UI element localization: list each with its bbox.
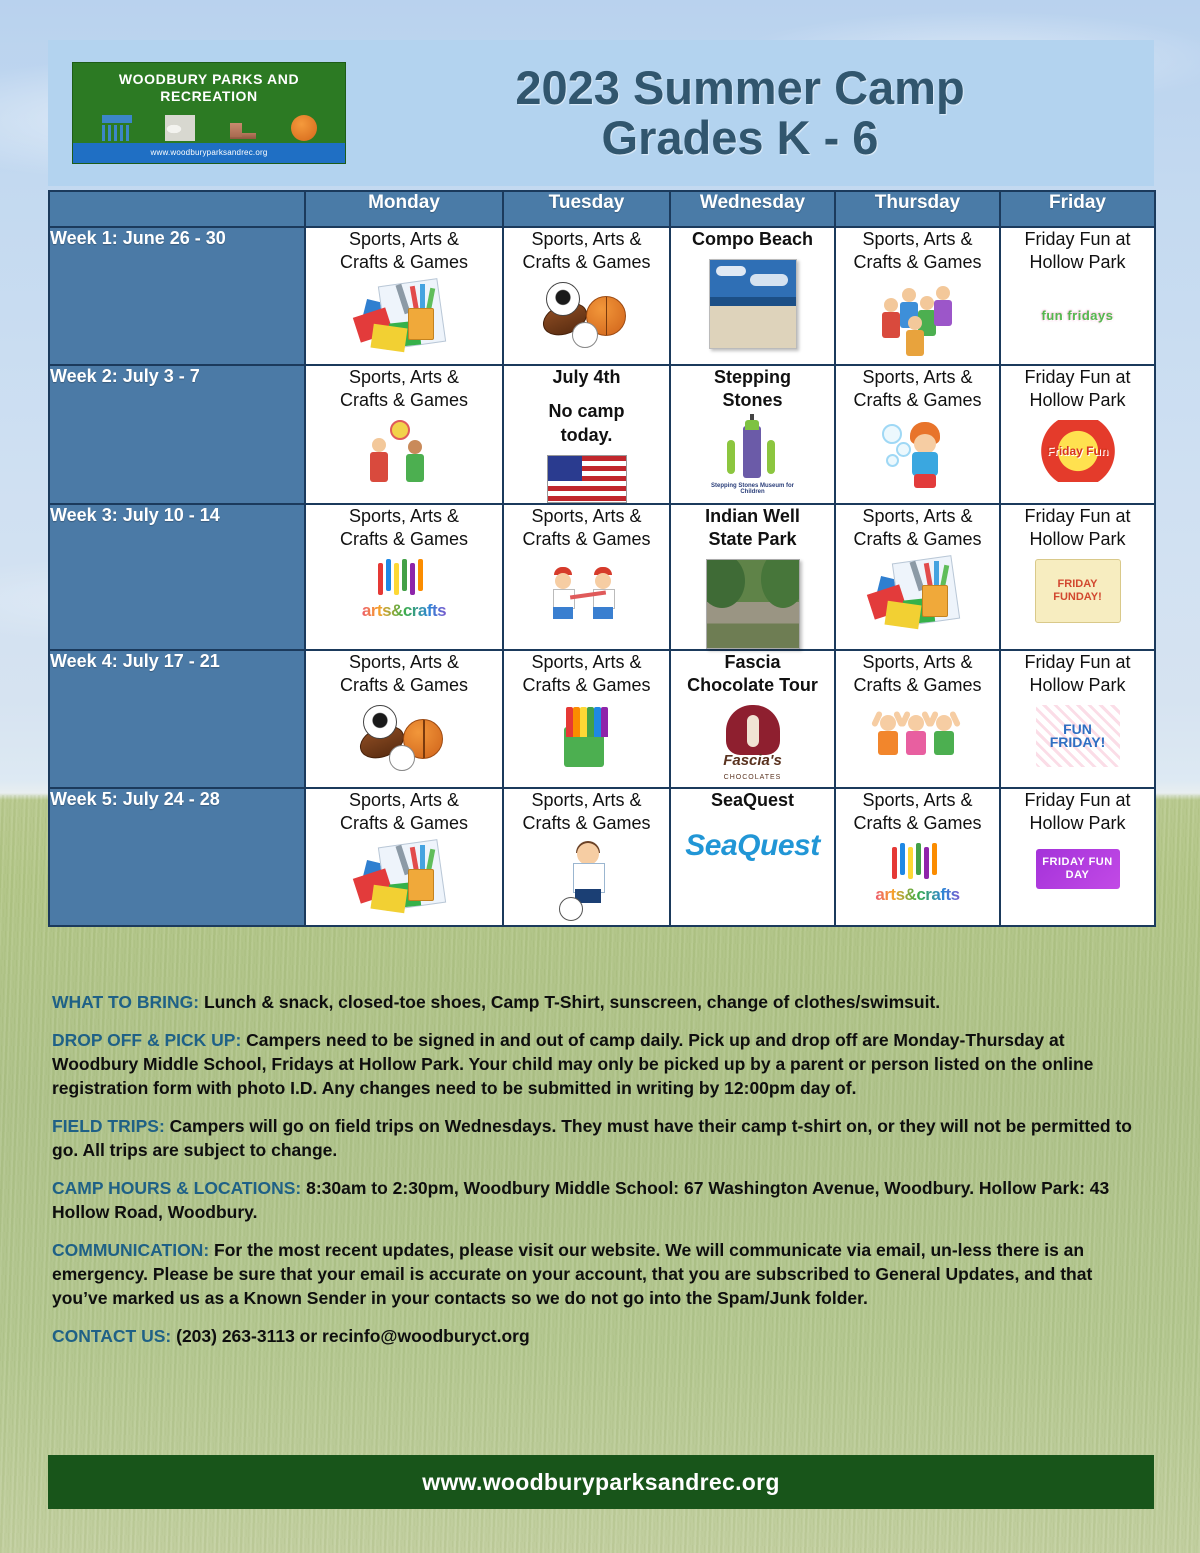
info-paragraph: COMMUNICATION: For the most recent updat… — [52, 1238, 1152, 1310]
schedule-cell: Sports, Arts &Crafts & Gamesarts&crafts — [305, 504, 503, 650]
schedule-cell-title: Compo Beach — [671, 228, 834, 251]
kids-playing-ball-icon — [362, 420, 446, 490]
schedule-cell-title: Sports, Arts &Crafts & Games — [306, 789, 502, 835]
page-title-line1: 2023 Summer Camp — [346, 63, 1134, 113]
logo-url: www.woodburyparksandrec.org — [73, 143, 345, 163]
info-paragraph: FIELD TRIPS: Campers will go on field tr… — [52, 1114, 1152, 1162]
week-label-cell: Week 1: June 26 - 30 — [49, 227, 305, 365]
schedule-cell-title: Friday Fun atHollow Park — [1001, 789, 1154, 835]
info-paragraph-lead: CAMP HOURS & LOCATIONS: — [52, 1178, 301, 1198]
schedule-cell-title: Indian WellState Park — [671, 505, 834, 551]
schedule-cell-title: SeaQuest — [671, 789, 834, 812]
schedule-cell: Compo Beach — [670, 227, 835, 365]
schedule-cell-title: Sports, Arts &Crafts & Games — [306, 505, 502, 551]
schedule-cell-title: July 4th — [504, 366, 669, 389]
friday-fun-day-badge-icon: FRIDAY FUN DAY — [1036, 849, 1120, 889]
table-header-row: Monday Tuesday Wednesday Thursday Friday — [49, 191, 1155, 227]
logo-title: WOODBURY PARKS AND RECREATION — [73, 71, 345, 105]
basketball-icon — [291, 115, 317, 141]
schedule-cell: Indian WellState Park — [670, 504, 835, 650]
schedule-cell: Sports, Arts &Crafts & Games — [503, 788, 670, 926]
info-paragraph-body: (203) 263-3113 or recinfo@woodburyct.org — [171, 1326, 529, 1346]
schedule-cell: FasciaChocolate TourFascia'sCHOCOLATES — [670, 650, 835, 788]
footer-website-bar[interactable]: www.woodburyparksandrec.org — [48, 1455, 1154, 1509]
schedule-cell: Sports, Arts &Crafts & Games — [503, 504, 670, 650]
column-header-thursday: Thursday — [835, 191, 1000, 227]
table-row: Week 4: July 17 - 21Sports, Arts &Crafts… — [49, 650, 1155, 788]
schedule-cell: SeaQuestSeaQuest — [670, 788, 835, 926]
schedule-cell: Sports, Arts &Crafts & Games — [835, 227, 1000, 365]
schedule-cell: Sports, Arts &Crafts & Games — [835, 365, 1000, 504]
schedule-cell: Sports, Arts &Crafts & Games — [503, 650, 670, 788]
schedule-cell-title: Sports, Arts &Crafts & Games — [306, 366, 502, 412]
week-label-cell: Week 5: July 24 - 28 — [49, 788, 305, 926]
table-row: Week 5: July 24 - 28Sports, Arts &Crafts… — [49, 788, 1155, 926]
schedule-cell-title: Sports, Arts &Crafts & Games — [306, 651, 502, 697]
schedule-cell-title: Sports, Arts &Crafts & Games — [836, 789, 999, 835]
arts-crafts-supplies-icon — [870, 559, 966, 631]
table-corner-cell — [49, 191, 305, 227]
schedule-cell-title: Friday Fun atHollow Park — [1001, 228, 1154, 274]
friday-funday-badge-icon: FRIDAY FUNDAY! — [1035, 559, 1121, 623]
week-label-cell: Week 4: July 17 - 21 — [49, 650, 305, 788]
column-header-monday: Monday — [305, 191, 503, 227]
cheering-kids-icon — [872, 705, 964, 767]
table-row: Week 2: July 3 - 7Sports, Arts &Crafts &… — [49, 365, 1155, 504]
schedule-cell-title: Sports, Arts &Crafts & Games — [504, 228, 669, 274]
sports-balls-icon — [359, 705, 449, 769]
arts-and-crafts-word-icon: arts&crafts — [868, 843, 968, 905]
schedule-cell-title: SteppingStones — [671, 366, 834, 412]
arts-crafts-supplies-icon — [356, 843, 452, 915]
table-body: Week 1: June 26 - 30Sports, Arts &Crafts… — [49, 227, 1155, 926]
info-paragraph: CAMP HOURS & LOCATIONS: 8:30am to 2:30pm… — [52, 1176, 1152, 1224]
schedule-cell-title: Sports, Arts &Crafts & Games — [836, 651, 999, 697]
schedule-cell-title: Friday Fun atHollow Park — [1001, 505, 1154, 551]
woodbury-parks-rec-logo: WOODBURY PARKS AND RECREATION www.woodbu… — [72, 62, 346, 164]
info-paragraph: WHAT TO BRING: Lunch & snack, closed-toe… — [52, 990, 1152, 1014]
footer-website-text: www.woodburyparksandrec.org — [422, 1469, 779, 1496]
schedule-cell-title: Friday Fun atHollow Park — [1001, 366, 1154, 412]
yoga-mat-icon — [165, 115, 195, 141]
schedule-cell-title: Sports, Arts &Crafts & Games — [836, 366, 999, 412]
schedule-cell: Sports, Arts &Crafts & Games — [305, 365, 503, 504]
crayons-icon — [544, 705, 630, 771]
page-title: 2023 Summer Camp Grades K - 6 — [346, 63, 1154, 163]
sports-balls-icon — [542, 282, 632, 346]
bubbles-kid-icon — [882, 420, 954, 490]
schedule-cell: Sports, Arts &Crafts & Games — [835, 650, 1000, 788]
usa-flag-icon — [547, 455, 627, 503]
info-paragraph: CONTACT US: (203) 263-3113 or recinfo@wo… — [52, 1324, 1152, 1348]
schedule-cell: Sports, Arts &Crafts & Gamesarts&crafts — [835, 788, 1000, 926]
info-paragraph-body: Campers will go on field trips on Wednes… — [52, 1116, 1132, 1160]
schedule-cell-title: Sports, Arts &Crafts & Games — [504, 789, 669, 835]
info-paragraph-lead: CONTACT US: — [52, 1326, 171, 1346]
info-section: WHAT TO BRING: Lunch & snack, closed-toe… — [52, 990, 1152, 1362]
flyer-page: WOODBURY PARKS AND RECREATION www.woodbu… — [0, 0, 1200, 1553]
logo-icon-row — [73, 111, 345, 145]
flyer-header: WOODBURY PARKS AND RECREATION www.woodbu… — [48, 40, 1154, 186]
column-header-wednesday: Wednesday — [670, 191, 835, 227]
schedule-cell-title: FasciaChocolate Tour — [671, 651, 834, 697]
schedule-cell-title: Sports, Arts &Crafts & Games — [306, 228, 502, 274]
table-row: Week 3: July 10 - 14Sports, Arts &Crafts… — [49, 504, 1155, 650]
playground-icon — [102, 115, 132, 141]
relay-race-kids-icon — [544, 559, 630, 625]
beach-photo-icon — [709, 259, 797, 349]
week-label-cell: Week 2: July 3 - 7 — [49, 365, 305, 504]
arts-crafts-supplies-icon — [356, 282, 452, 354]
kids-group-icon — [876, 282, 960, 352]
schedule-cell: Friday Fun atHollow ParkFUN FRIDAY! — [1000, 650, 1155, 788]
schedule-cell: Sports, Arts &Crafts & Games — [305, 227, 503, 365]
schedule-cell-title: Sports, Arts &Crafts & Games — [836, 228, 999, 274]
schedule-cell: Sports, Arts &Crafts & Games — [305, 788, 503, 926]
seaquest-logo-icon: SeaQuest — [678, 820, 828, 872]
info-paragraph: DROP OFF & PICK UP: Campers need to be s… — [52, 1028, 1152, 1100]
info-paragraph-lead: WHAT TO BRING: — [52, 992, 199, 1012]
schedule-cell: Friday Fun atHollow Parkfun fridays — [1000, 227, 1155, 365]
schedule-cell-title: Sports, Arts &Crafts & Games — [504, 651, 669, 697]
hiking-boot-icon — [228, 115, 258, 141]
fascias-chocolates-logo-icon: Fascia'sCHOCOLATES — [714, 705, 792, 781]
info-paragraph-lead: DROP OFF & PICK UP: — [52, 1030, 241, 1050]
schedule-cell: July 4thNo camptoday. — [503, 365, 670, 504]
column-header-friday: Friday — [1000, 191, 1155, 227]
table-row: Week 1: June 26 - 30Sports, Arts &Crafts… — [49, 227, 1155, 365]
info-paragraph-body: For the most recent updates, please visi… — [52, 1240, 1092, 1308]
camp-schedule-table: Monday Tuesday Wednesday Thursday Friday… — [48, 190, 1156, 927]
week-label-cell: Week 3: July 10 - 14 — [49, 504, 305, 650]
logo-title-line1: WOODBURY PARKS AND — [119, 71, 299, 87]
schedule-cell-title: Sports, Arts &Crafts & Games — [504, 505, 669, 551]
schedule-cell: Friday Fun atHollow ParkFriday Fun — [1000, 365, 1155, 504]
schedule-cell-title: Sports, Arts &Crafts & Games — [836, 505, 999, 551]
schedule-cell: SteppingStonesStepping Stones Museum for… — [670, 365, 835, 504]
fun-fridays-badge-icon: fun fridays — [1036, 284, 1120, 346]
friday-fun-burst-badge-icon: Friday Fun — [1036, 420, 1120, 482]
schedule-cell: Sports, Arts &Crafts & Games — [835, 504, 1000, 650]
soccer-boy-icon — [551, 843, 623, 919]
schedule-cell-title: Friday Fun atHollow Park — [1001, 651, 1154, 697]
schedule-cell: Sports, Arts &Crafts & Games — [305, 650, 503, 788]
arts-and-crafts-word-icon: arts&crafts — [354, 559, 454, 621]
info-paragraph-lead: FIELD TRIPS: — [52, 1116, 165, 1136]
column-header-tuesday: Tuesday — [503, 191, 670, 227]
page-title-line2: Grades K - 6 — [346, 113, 1134, 163]
park-photo-icon — [706, 559, 800, 649]
schedule-cell: Friday Fun atHollow ParkFRIDAY FUN DAY — [1000, 788, 1155, 926]
logo-title-line2: RECREATION — [160, 88, 258, 104]
info-paragraph-body: Lunch & snack, closed-toe shoes, Camp T-… — [199, 992, 940, 1012]
info-paragraph-lead: COMMUNICATION: — [52, 1240, 209, 1260]
schedule-cell-subtitle: No camptoday. — [504, 399, 669, 447]
fun-friday-confetti-badge-icon: FUN FRIDAY! — [1036, 705, 1120, 767]
stepping-stones-logo-icon: Stepping Stones Museum for Children — [707, 420, 799, 492]
schedule-cell: Sports, Arts &Crafts & Games — [503, 227, 670, 365]
schedule-cell: Friday Fun atHollow ParkFRIDAY FUNDAY! — [1000, 504, 1155, 650]
